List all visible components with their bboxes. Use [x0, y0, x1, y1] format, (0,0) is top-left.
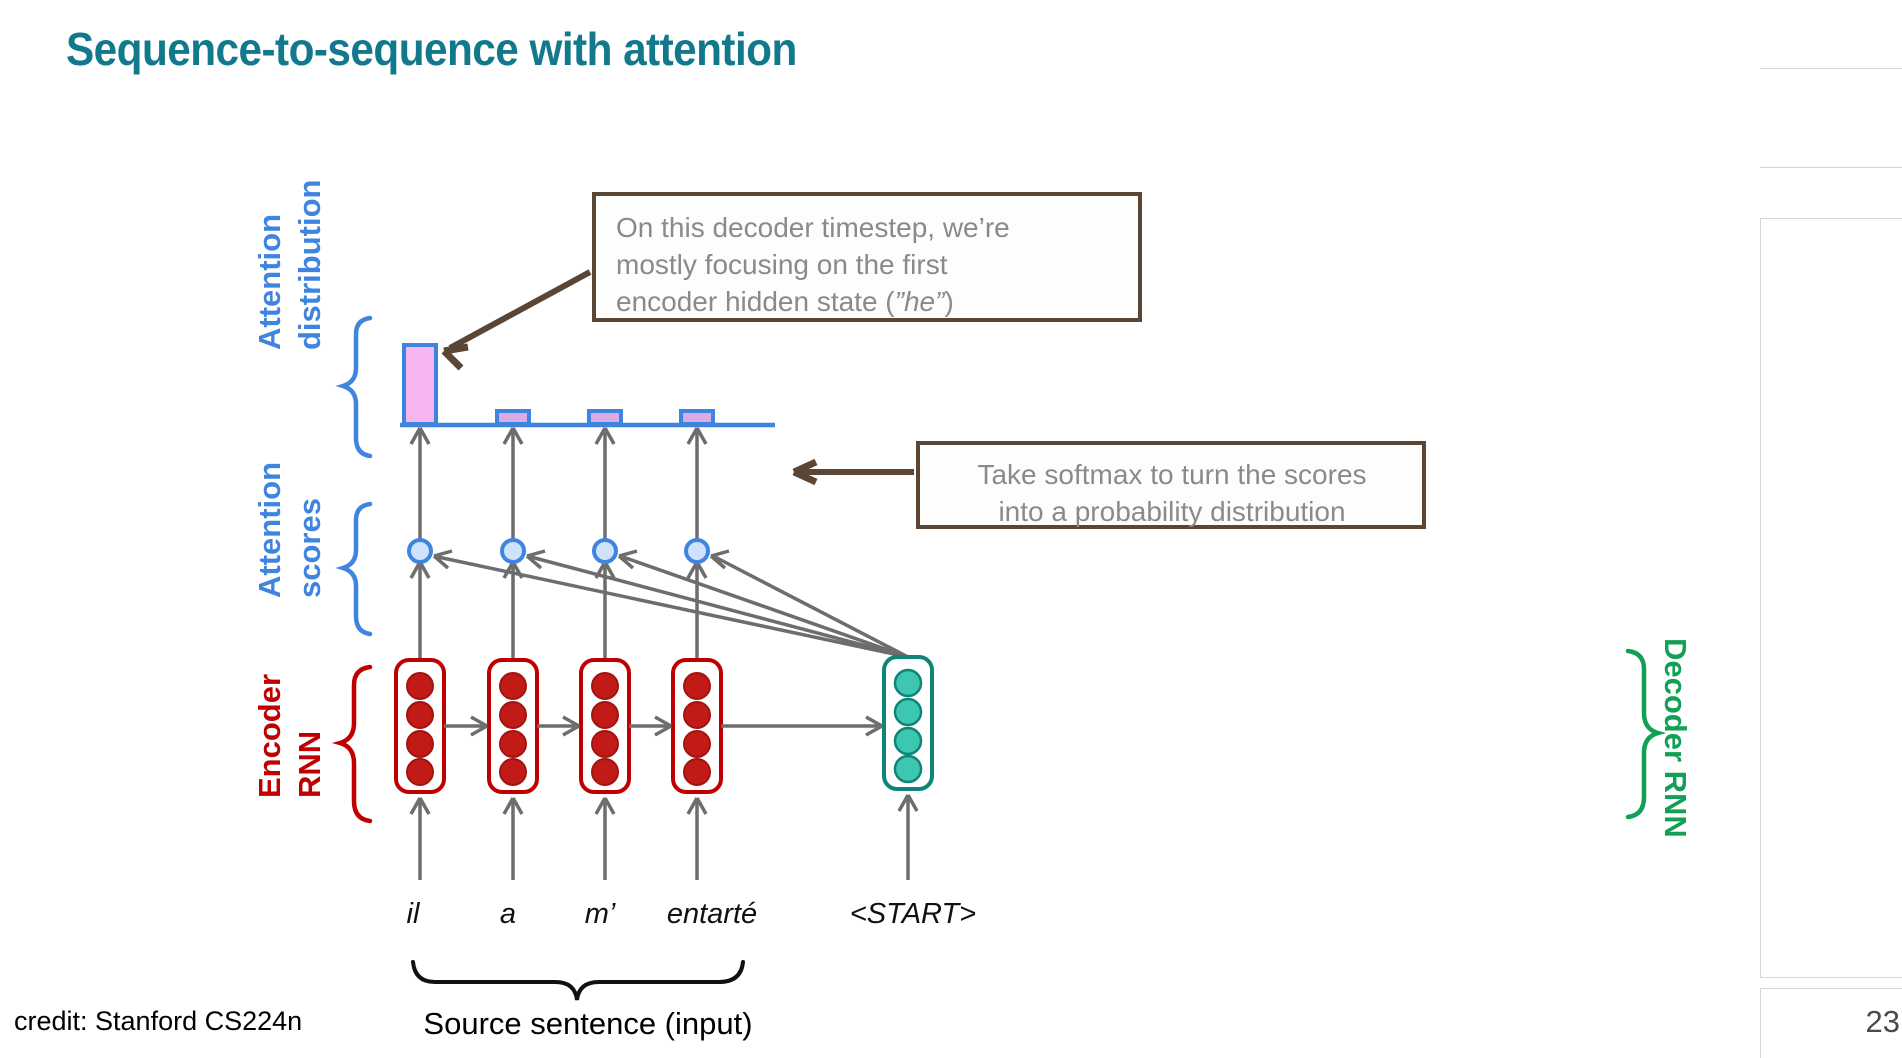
- callout-focus-line3-suffix: ): [944, 286, 953, 317]
- callout-focus-line3-prefix: encoder hidden state (: [616, 286, 895, 317]
- arrow-left-icon-callout-softmax: [794, 462, 914, 482]
- curly-brace-left-icon-encoder: [340, 667, 370, 821]
- callout-softmax-line2: into a probability distribution: [940, 494, 1404, 531]
- attention-bar-0: [404, 345, 436, 424]
- arrow-diagonal-icon-dec-to-score-3: [715, 557, 908, 657]
- page-number: 23: [1866, 1004, 1900, 1040]
- callout-softmax-explanation: Take softmax to turn the scores into a p…: [916, 441, 1426, 529]
- token-label-2: m’: [585, 898, 616, 931]
- encoder-cell-1: [489, 660, 537, 792]
- encoder-cell-3: [673, 660, 721, 792]
- credit-label: credit: Stanford CS224n: [14, 1006, 302, 1037]
- token-label-0: il: [407, 898, 420, 931]
- token-label-3: entarté: [667, 898, 757, 931]
- token-label-4: <START>: [850, 898, 976, 931]
- attention-bar-1: [497, 411, 529, 424]
- callout-focus-line3: encoder hidden state (”he”): [616, 284, 1120, 321]
- attention-score-node-3: [686, 540, 708, 562]
- label-attention-distribution-line2: distribution: [292, 180, 328, 350]
- attention-score-node-0: [409, 540, 431, 562]
- label-decoder-rnn: Decoder RNN: [1657, 638, 1693, 838]
- callout-focus-line1: On this decoder timestep, we’re: [616, 210, 1120, 247]
- page-title: Sequence-to-sequence with attention: [66, 22, 797, 76]
- curly-brace-left-icon-attention-distribution: [343, 318, 370, 456]
- curly-brace-left-icon-attention-scores: [343, 504, 370, 634]
- label-attention-scores-line2: scores: [292, 498, 328, 598]
- curly-brace-right-icon-decoder: [1628, 651, 1658, 817]
- label-encoder-rnn-line1: Encoder: [252, 674, 288, 798]
- callout-focus-line2: mostly focusing on the first: [616, 247, 1120, 284]
- attention-score-node-2: [594, 540, 616, 562]
- label-source-sentence: Source sentence (input): [413, 1006, 763, 1042]
- encoder-cell-0: [396, 660, 444, 792]
- arrow-diagonal-icon-callout-focus: [444, 272, 590, 368]
- callout-focus-line3-quote: ”he”: [895, 286, 945, 317]
- token-label-1: a: [500, 898, 516, 931]
- decoder-cell-0: [884, 657, 932, 789]
- attention-score-node-1: [502, 540, 524, 562]
- attention-bar-3: [681, 411, 713, 424]
- arrow-diagonal-icon-dec-to-score-1: [531, 557, 908, 657]
- arrow-diagonal-icon-dec-to-score-2: [623, 557, 908, 657]
- label-encoder-rnn-line2: RNN: [292, 731, 328, 798]
- curly-brace-bottom-icon-source-sentence: [413, 962, 743, 1000]
- panel-edge-top: [1760, 68, 1902, 168]
- arrow-diagonal-icon-dec-to-score-0: [438, 557, 908, 657]
- callout-softmax-line1: Take softmax to turn the scores: [940, 457, 1404, 494]
- panel-edge-middle: [1760, 218, 1902, 978]
- attention-bar-2: [589, 411, 621, 424]
- label-attention-distribution-line1: Attention: [252, 214, 288, 350]
- label-attention-scores-line1: Attention: [252, 462, 288, 598]
- callout-focus-explanation: On this decoder timestep, we’re mostly f…: [592, 192, 1142, 322]
- encoder-cell-2: [581, 660, 629, 792]
